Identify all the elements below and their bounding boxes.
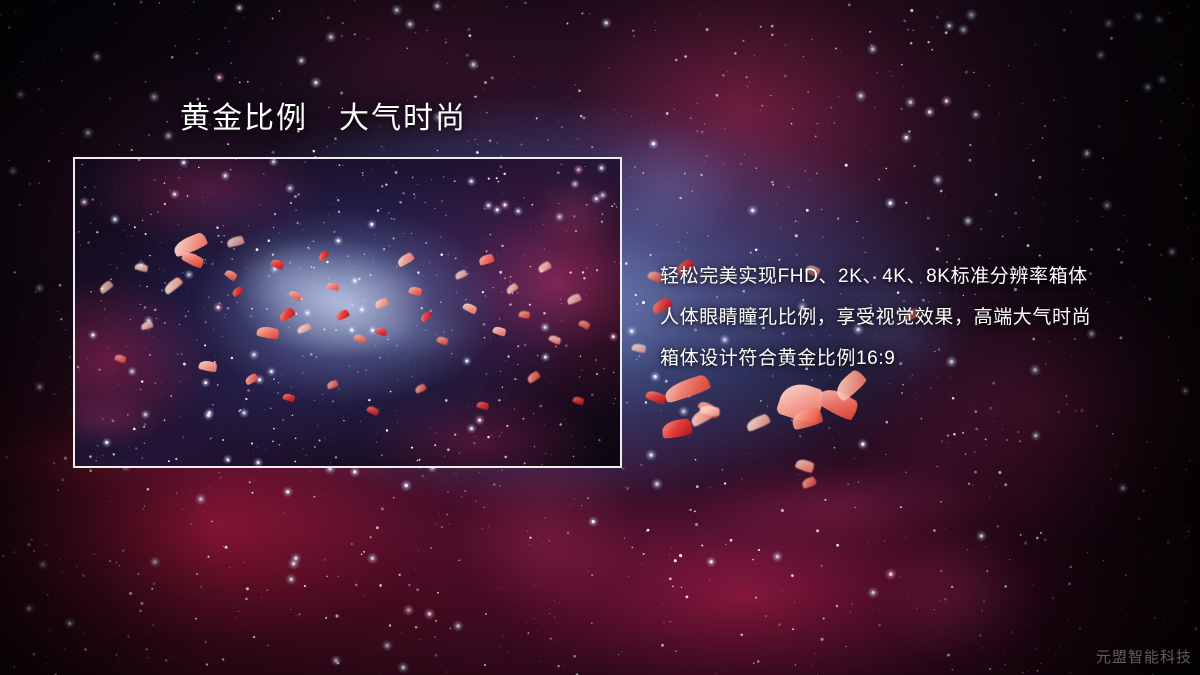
page-title: 黄金比例 大气时尚: [180, 102, 467, 137]
feature-description: 轻松完美实现FHD、2K、4K、8K标准分辨率箱体 人体眼睛瞳孔比例，享受视觉效…: [660, 256, 1180, 379]
description-line: 人体眼睛瞳孔比例，享受视觉效果，高端大气时尚: [660, 297, 1180, 338]
description-line: 轻松完美实现FHD、2K、4K、8K标准分辨率箱体: [660, 256, 1180, 297]
photo-wisp-layer: [73, 157, 622, 468]
framed-photo: [73, 157, 622, 468]
brand-watermark: 元盟智能科技: [1096, 646, 1192, 667]
description-line: 箱体设计符合黄金比例16:9: [660, 338, 1180, 379]
presentation-slide: 黄金比例 大气时尚 轻松完美实现FHD、2K、4K、8K标准分辨率箱体 人体眼睛…: [0, 0, 1200, 675]
